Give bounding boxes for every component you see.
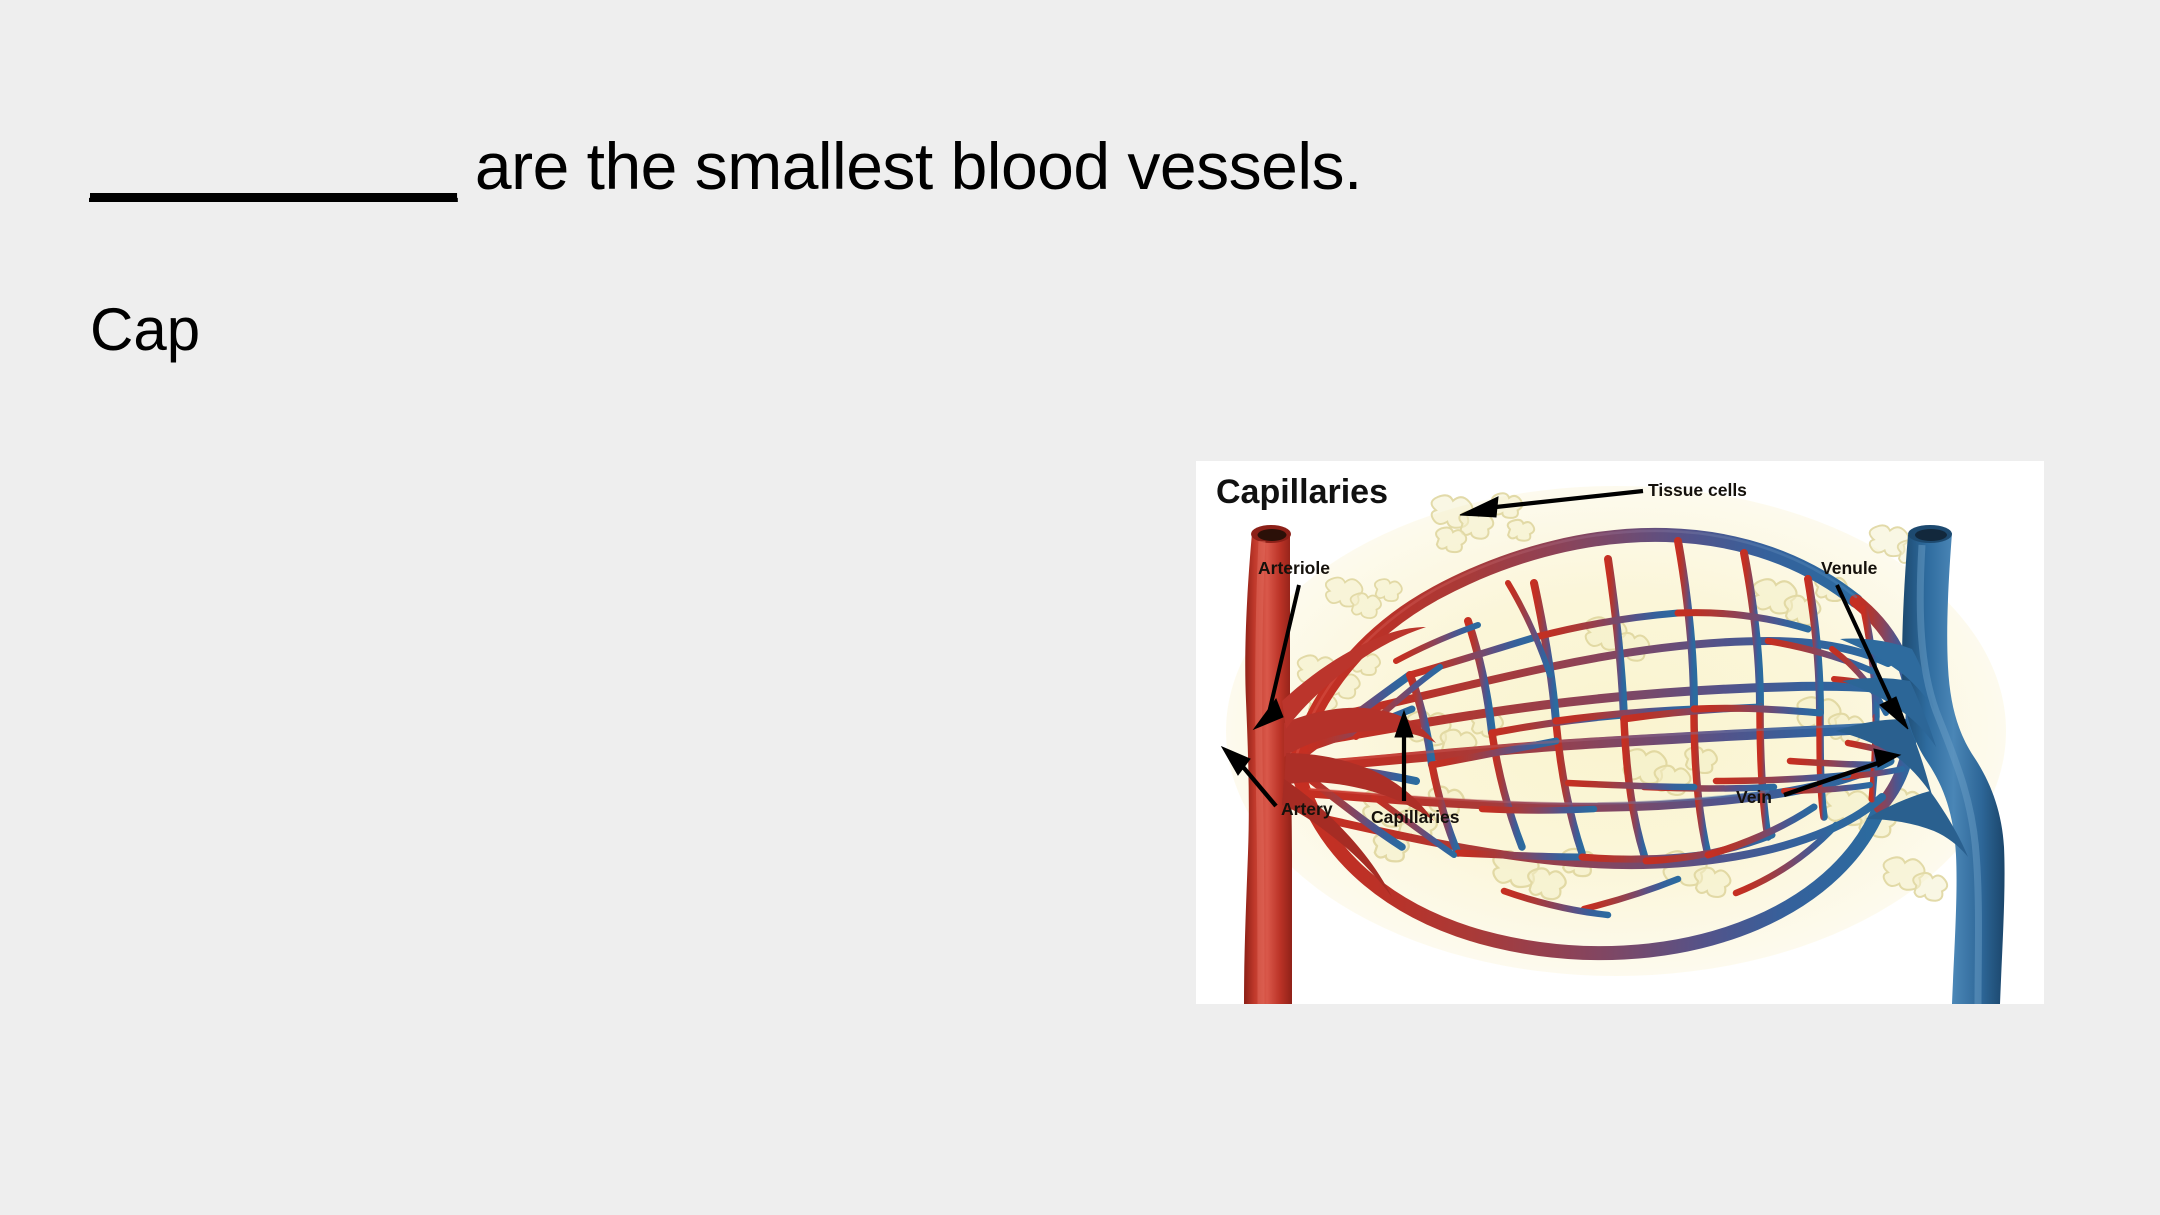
label-artery: Artery: [1281, 799, 1333, 819]
label-venule: Venule: [1821, 558, 1878, 578]
slide-canvas: __________ are the smallest blood vessel…: [0, 0, 2160, 1215]
page-title: __________ are the smallest blood vessel…: [90, 130, 1362, 203]
label-arteriole: Arteriole: [1258, 558, 1330, 578]
title-blank: __________: [90, 129, 457, 203]
title-rest: are the smallest blood vessels.: [457, 129, 1362, 203]
capillaries-diagram: Capillaries Tissue cells Arteriole Venul…: [1196, 461, 2044, 1004]
artery-lumen-inner: [1258, 529, 1287, 541]
label-vein: Vein: [1736, 787, 1772, 807]
label-capillaries: Capillaries: [1371, 807, 1460, 827]
body-text: Cap: [90, 297, 200, 363]
figure-title: Capillaries: [1216, 473, 1388, 511]
label-tissue-cells: Tissue cells: [1648, 480, 1747, 500]
capillaries-figure: Capillaries Tissue cells Arteriole Venul…: [1196, 461, 2044, 1004]
vein-lumen-inner: [1915, 529, 1947, 541]
